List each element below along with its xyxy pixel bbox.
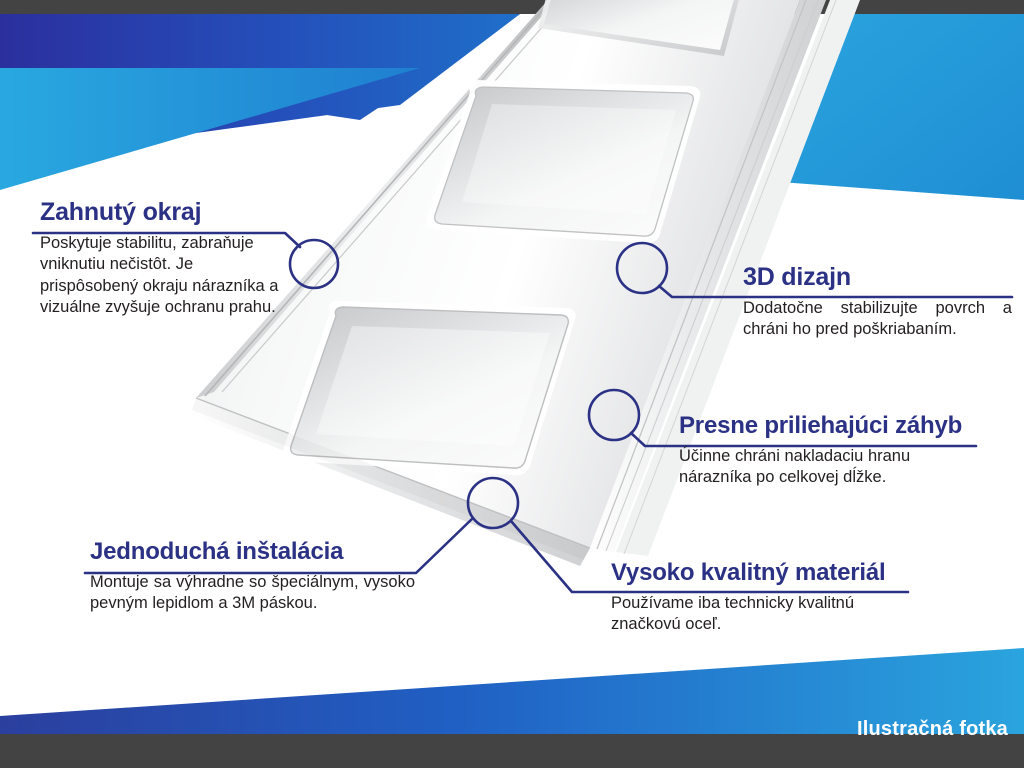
callout-body-vysoko-kvalitny-material: Používame iba technicky kvalitnú značkov…	[608, 585, 908, 636]
callout-presne-priliehajuci-zahyb: Presne priliehajúci záhyb Účinne chráni …	[676, 414, 976, 489]
footer-illustrative-photo-label: Ilustračná fotka	[857, 718, 1008, 741]
callout-vysoko-kvalitny-material: Vysoko kvalitný materiál Používame iba t…	[608, 561, 908, 636]
callout-title-jednoducha-instalacia: Jednoduchá inštalácia	[85, 540, 415, 564]
callout-body-zahnuty-okraj: Poskytuje stabilitu, zabraňuje vniknutiu…	[33, 225, 295, 319]
callout-title-3d-dizajn: 3D dizajn	[740, 265, 1012, 290]
callout-body-3d-dizajn: Dodatočne stabilizujte povrch a chráni h…	[740, 290, 1012, 341]
callout-title-vysoko-kvalitny-material: Vysoko kvalitný materiál	[608, 561, 908, 585]
callout-title-presne-priliehajuci-zahyb: Presne priliehajúci záhyb	[676, 414, 976, 438]
callout-jednoducha-instalacia: Jednoduchá inštalácia Montuje sa výhradn…	[85, 540, 415, 615]
callout-body-jednoducha-instalacia: Montuje sa výhradne so špeciálnym, vysok…	[85, 564, 415, 615]
callout-3d-dizajn: 3D dizajn Dodatočne stabilizujte povrch …	[740, 265, 1012, 341]
infographic-slide: Zahnutý okraj Poskytuje stabilitu, zabra…	[0, 0, 1024, 768]
callout-zahnuty-okraj: Zahnutý okraj Poskytuje stabilitu, zabra…	[33, 200, 295, 319]
callout-title-zahnuty-okraj: Zahnutý okraj	[33, 200, 295, 225]
callout-text-layer: Zahnutý okraj Poskytuje stabilitu, zabra…	[0, 0, 1024, 768]
callout-body-presne-priliehajuci-zahyb: Účinne chráni nakladaciu hranu nárazníka…	[676, 438, 976, 489]
